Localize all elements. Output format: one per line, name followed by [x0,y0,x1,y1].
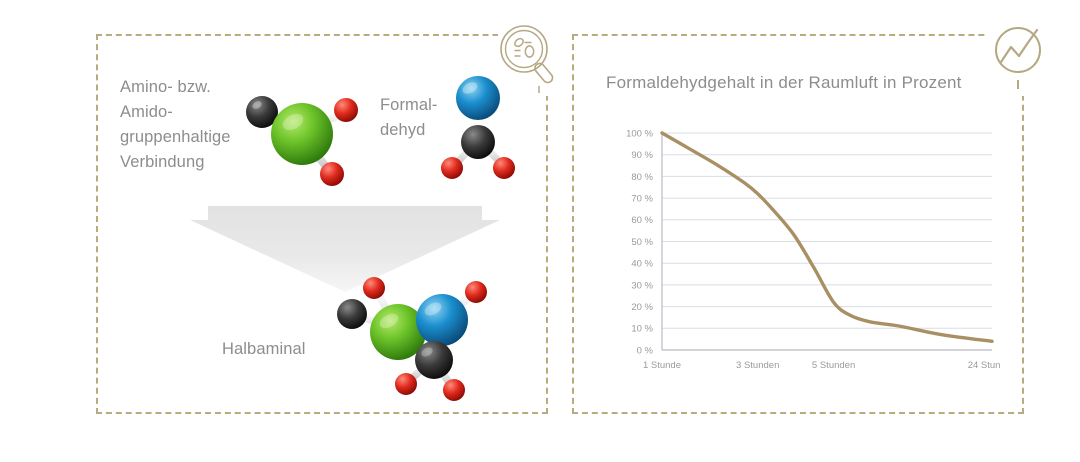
chart-y-tick: 50 % [631,237,653,248]
chart-y-tick: 10 % [631,324,653,335]
chart-y-tick: 30 % [631,280,653,291]
chart-y-tick: 40 % [631,259,653,270]
screenshot-root: Amino- bzw. Amido- gruppenhaltige Verbin… [0,0,1080,462]
line-chart: 0 %10 %20 %30 %40 %50 %60 %70 %80 %90 %1… [600,118,1000,380]
chart-x-tick: 24 Stunden [968,360,1000,371]
amino-compound-molecule [238,84,374,192]
chart-title: Formaldehydgehalt in der Raumluft in Pro… [606,73,962,93]
chart-y-tick: 0 % [637,345,654,356]
chart-y-tick: 20 % [631,302,653,313]
chart-series-line [662,133,992,341]
formaldehyde-molecule [434,68,526,190]
trend-chart-circle-icon [988,22,1052,96]
chart-y-tick: 80 % [631,172,653,183]
chart-y-tick: 70 % [631,194,653,205]
chart-y-tick: 90 % [631,150,653,161]
chart-y-tick: 60 % [631,215,653,226]
chart-x-tick: 3 Stunden [736,360,779,371]
chart-y-tick: 100 % [626,128,653,139]
chart-x-tick: 5 Stunden [812,360,855,371]
halbaminal-molecule [328,272,504,402]
chart-x-tick: 1 Stunde [643,360,681,371]
